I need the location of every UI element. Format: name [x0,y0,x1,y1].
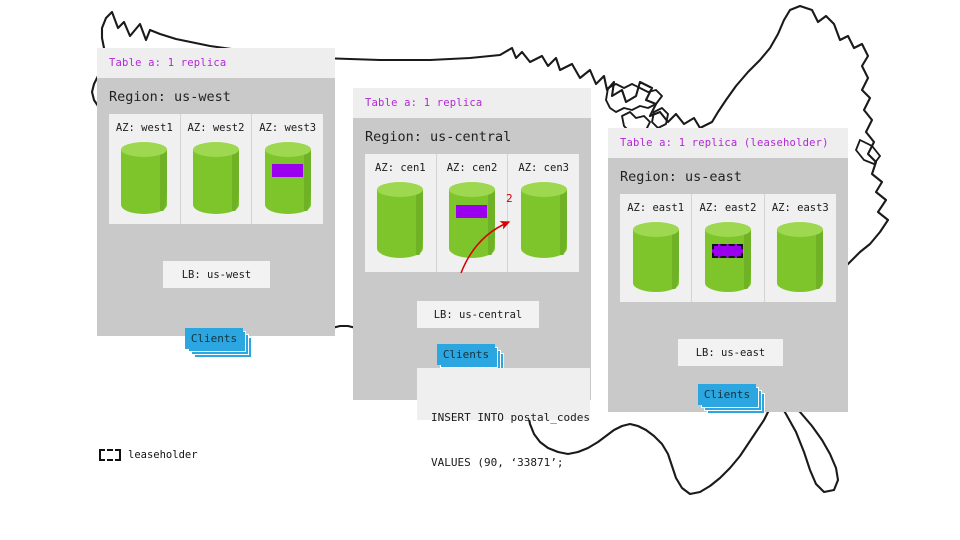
az-label-west3: AZ: west3 [259,122,316,134]
diagram-canvas: Table a: 1 replica Region: us-west AZ: w… [0,0,960,540]
cylinder-top [521,182,567,197]
cylinder-shade [560,191,567,255]
cylinder-shade [488,191,495,255]
cylinder-top [121,142,167,157]
cylinder-top [449,182,495,197]
sql-line-1: INSERT INTO postal_codes [431,410,590,425]
cylinder-shade [744,231,751,289]
region-panel-us-east: Table a: 1 replica (leaseholder) Region:… [608,128,848,412]
az-label-east1: AZ: east1 [627,202,684,214]
clients-label: Clients [704,388,750,401]
cylinder-top [633,222,679,237]
az-row-us-central: AZ: cen1 AZ: cen2 [365,154,579,272]
load-balancer-label: LB: us-east [696,347,766,359]
az-label-cen2: AZ: cen2 [447,162,498,174]
load-balancer-label: LB: us-central [434,309,523,321]
leaseholder-range-marker-east2 [712,244,743,258]
region-title-us-central: Region: us-central [353,118,591,145]
az-cen3[interactable]: AZ: cen3 [508,154,579,272]
cylinder-shade [672,231,679,289]
replica-cylinder-east1[interactable] [633,222,679,292]
az-label-cen1: AZ: cen1 [375,162,426,174]
leaseholder-swatch-icon [99,449,121,461]
replica-cylinder-west2[interactable] [193,142,239,214]
az-cen1[interactable]: AZ: cen1 [365,154,437,272]
az-label-cen3: AZ: cen3 [518,162,569,174]
az-west1[interactable]: AZ: west1 [109,114,181,224]
az-label-east3: AZ: east3 [772,202,829,214]
clients-label: Clients [191,332,237,345]
az-row-us-east: AZ: east1 AZ: east2 [620,194,836,302]
routing-arrow-step-label: 2 [506,192,513,205]
sql-line-2: VALUES (90, ‘33871’; [431,455,590,470]
az-west2[interactable]: AZ: west2 [181,114,253,224]
load-balancer-label: LB: us-west [182,269,252,281]
az-east1[interactable]: AZ: east1 [620,194,692,302]
range-marker-cen2 [456,205,487,218]
cylinder-shade [232,151,239,211]
region-panel-us-west: Table a: 1 replica Region: us-west AZ: w… [97,48,335,336]
clients-stack-us-west[interactable]: Clients [185,328,255,360]
az-west3[interactable]: AZ: west3 [252,114,323,224]
replica-cylinder-cen1[interactable] [377,182,423,258]
az-label-west1: AZ: west1 [116,122,173,134]
load-balancer-us-east[interactable]: LB: us-east [678,339,783,366]
az-label-east2: AZ: east2 [700,202,757,214]
sql-statement-box: INSERT INTO postal_codes VALUES (90, ‘33… [417,368,590,420]
load-balancer-us-central[interactable]: LB: us-central [417,301,539,328]
replica-cylinder-east2[interactable] [705,222,751,292]
az-cen2[interactable]: AZ: cen2 [437,154,509,272]
region-replica-label-us-east: Table a: 1 replica (leaseholder) [608,128,848,158]
region-replica-label-us-central: Table a: 1 replica [353,88,591,118]
region-replica-label-us-west: Table a: 1 replica [97,48,335,78]
range-marker-west3 [272,164,303,177]
cylinder-shade [304,151,311,211]
clients-stack-us-east[interactable]: Clients [698,384,768,416]
clients-label: Clients [443,348,489,361]
clients-button-us-east[interactable]: Clients [698,384,756,405]
region-title-us-west: Region: us-west [97,78,335,105]
replica-cylinder-cen3[interactable] [521,182,567,258]
az-row-us-west: AZ: west1 AZ: west2 AZ [109,114,323,224]
replica-cylinder-cen2[interactable] [449,182,495,258]
cylinder-top [193,142,239,157]
legend-leaseholder: leaseholder [99,449,198,461]
az-label-west2: AZ: west2 [188,122,245,134]
clients-button-us-west[interactable]: Clients [185,328,243,349]
region-panel-us-central: Table a: 1 replica Region: us-central AZ… [353,88,591,400]
replica-cylinder-east3[interactable] [777,222,823,292]
cylinder-top [265,142,311,157]
az-east2[interactable]: AZ: east2 [692,194,764,302]
legend-label: leaseholder [128,449,198,461]
clients-button-us-central[interactable]: Clients [437,344,495,365]
cylinder-top [777,222,823,237]
replica-cylinder-west3[interactable] [265,142,311,214]
az-east3[interactable]: AZ: east3 [765,194,836,302]
region-title-us-east: Region: us-east [608,158,848,185]
load-balancer-us-west[interactable]: LB: us-west [163,261,270,288]
cylinder-top [705,222,751,237]
replica-cylinder-west1[interactable] [121,142,167,214]
cylinder-top [377,182,423,197]
